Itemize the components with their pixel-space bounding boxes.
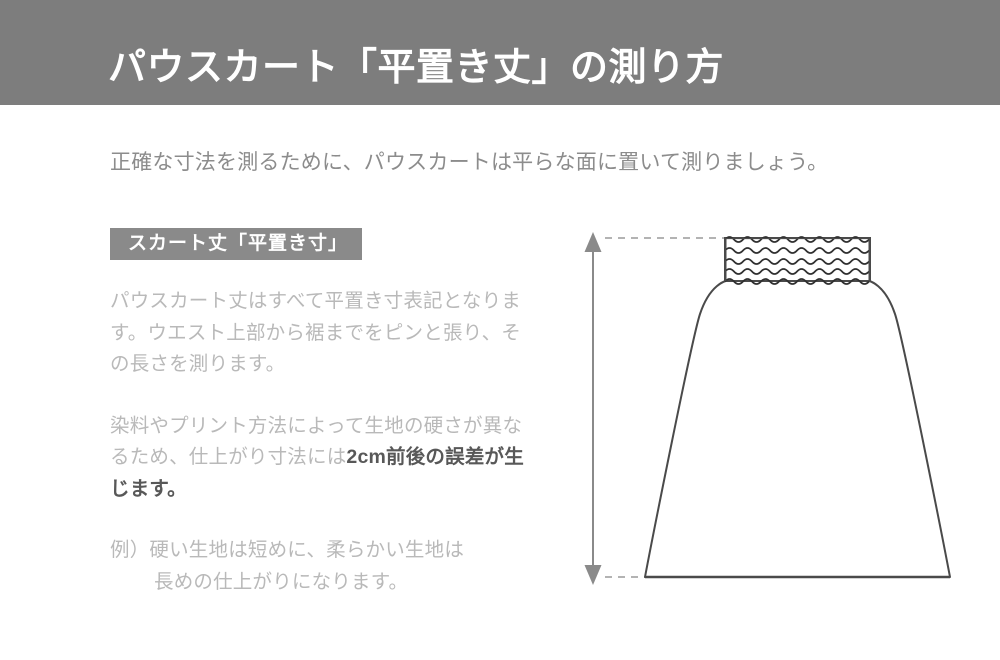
measurement-arrow xyxy=(585,232,602,585)
left-text-column: スカート丈「平置き寸」 パウスカート丈はすべて平置き寸表記となります。ウエスト上… xyxy=(110,228,540,599)
example-marker: 例） xyxy=(110,539,149,561)
body-paragraph-3: 例）硬い生地は短めに、柔らかい生地は 長めの仕上がりになります。 xyxy=(110,535,540,598)
body-paragraph-2: 染料やプリント方法によって生地の硬さが異なるため、仕上がり寸法には2cm前後の誤… xyxy=(110,411,540,506)
example-line-1: 硬い生地は短めに、柔らかい生地は xyxy=(149,539,464,561)
intro-instruction-text: 正確な寸法を測るために、パウスカートは平らな面に置いて測りましょう。 xyxy=(110,146,828,176)
arrow-head-up-icon xyxy=(585,232,602,252)
example-line-2: 長めの仕上がりになります。 xyxy=(110,567,540,599)
flared-skirt-body xyxy=(645,281,950,577)
skirt-measurement-illustration xyxy=(560,210,990,610)
section-badge-skirt-length: スカート丈「平置き寸」 xyxy=(110,228,362,260)
page-title: パウスカート「平置き丈」の測り方 xyxy=(108,36,724,91)
body-paragraph-1: パウスカート丈はすべて平置き寸表記となります。ウエスト上部から裾までをピンと張り… xyxy=(110,286,540,381)
arrow-head-down-icon xyxy=(585,565,602,585)
